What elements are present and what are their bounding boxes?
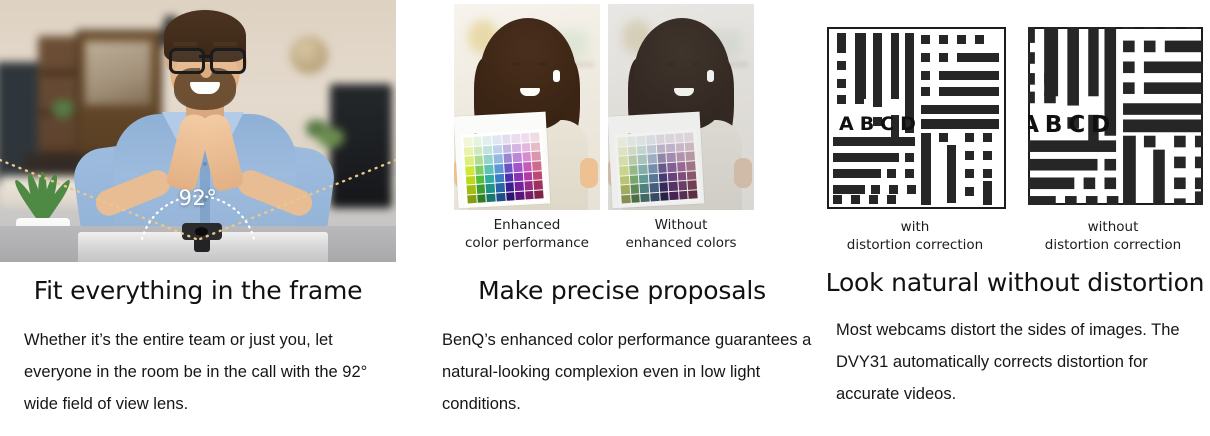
feature-text-block-2: Make precise proposals BenQ’s enhanced c… — [424, 276, 820, 420]
caption-without-line2: distortion correction — [1025, 236, 1201, 254]
color-comparison-image: Enhanced color performance Without enhan… — [454, 4, 786, 252]
feature-heading-3: Look natural without distortion — [820, 268, 1210, 298]
lens-left — [169, 48, 205, 74]
eye-left — [512, 62, 521, 66]
test-chart-uncorrected: ABCD — [1028, 27, 1203, 205]
smile — [520, 88, 540, 96]
caption-enhanced-line2: color performance — [454, 234, 600, 252]
earbud-icon — [553, 70, 560, 82]
webcam-device — [182, 223, 222, 240]
eyeglasses-icon — [168, 48, 242, 68]
fov-angle-label: 92° — [0, 186, 396, 210]
fashion-sketch-sheet — [454, 112, 550, 209]
feature-body-1: Whether it’s the entire team or just you… — [0, 324, 396, 421]
feature-column-color-performance: Enhanced color performance Without enhan… — [410, 0, 820, 436]
hand-right — [734, 158, 752, 188]
video-call-photo: 92° — [0, 0, 396, 262]
feature-heading-2: Make precise proposals — [424, 276, 820, 306]
hand-right — [580, 158, 598, 188]
earbud-icon — [707, 70, 714, 82]
caption-enhanced: Enhanced color performance — [454, 216, 600, 252]
color-swatch-card — [460, 129, 547, 207]
chart-pattern: ABCD — [829, 29, 1004, 207]
distortion-comparison-image: ABCD — [827, 27, 1203, 254]
caption-enhanced-line1: Enhanced — [454, 216, 600, 234]
eye-left — [666, 62, 675, 66]
portrait-enhanced — [454, 4, 600, 210]
eyebrow-right — [213, 42, 237, 46]
caption-without-enhancement: Without enhanced colors — [608, 216, 754, 252]
shelf-plant — [52, 100, 74, 118]
chart-pair: ABCD — [827, 27, 1203, 209]
webcam-mount — [194, 240, 210, 252]
chart-letters-corrected: ABCD — [839, 113, 922, 135]
feature-text-block-3: Look natural without distortion Most web… — [820, 268, 1210, 410]
glasses-bridge — [199, 55, 211, 58]
chart-letters-uncorrected: ABCD — [1028, 110, 1116, 138]
feature-body-2: BenQ’s enhanced color performance guaran… — [424, 324, 820, 421]
comparison-captions: Enhanced color performance Without enhan… — [454, 216, 786, 252]
portrait-without-enhancement — [608, 4, 754, 210]
caption-without-line1: without — [1025, 218, 1201, 236]
eye-right — [538, 62, 547, 66]
chart-pattern-distorted: ABCD — [1028, 27, 1203, 205]
eye-right — [692, 62, 701, 66]
smile — [674, 88, 694, 96]
caption-with-line1: with — [827, 218, 1003, 236]
caption-without-line2: enhanced colors — [608, 234, 754, 252]
feature-body-3: Most webcams distort the sides of images… — [820, 314, 1210, 411]
lens-right — [210, 48, 246, 74]
shelf-plant — [318, 128, 344, 148]
clasped-hands — [168, 114, 242, 192]
caption-with-line2: distortion correction — [827, 236, 1003, 254]
caption-with-correction: with distortion correction — [827, 218, 1003, 254]
test-chart-corrected: ABCD — [827, 27, 1006, 209]
feature-heading-1: Fit everything in the frame — [0, 276, 396, 306]
distortion-captions: with distortion correction without disto… — [827, 218, 1203, 254]
eyebrow-left — [173, 42, 197, 46]
feature-column-field-of-view: 92° Fit everything in the frame Whether … — [0, 0, 410, 436]
fashion-sketch-sheet — [608, 112, 704, 209]
feature-row: 92° Fit everything in the frame Whether … — [0, 0, 1210, 436]
caption-without-line1: Without — [608, 216, 754, 234]
feature-text-block-1: Fit everything in the frame Whether it’s… — [0, 276, 396, 420]
caption-without-correction: without distortion correction — [1025, 218, 1201, 254]
portrait-pair — [454, 4, 786, 210]
color-swatch-card — [614, 129, 701, 207]
feature-column-distortion: ABCD — [820, 0, 1210, 436]
